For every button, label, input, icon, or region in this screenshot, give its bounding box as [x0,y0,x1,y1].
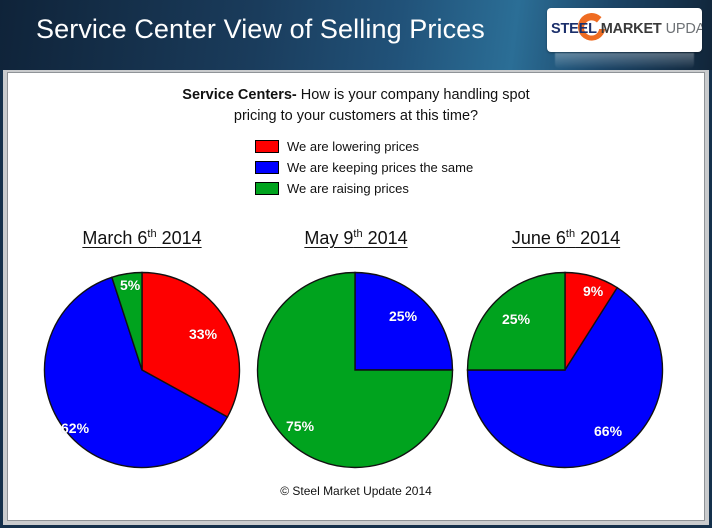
logo-reflection [555,53,694,69]
brand-logo: STEEL MARKET UPDATE [547,8,702,52]
pie-title-may-main: May 9 [304,228,353,248]
pie-march-label-raising: 5% [120,277,140,293]
question-line2: pricing to your customers at this time? [234,108,478,124]
survey-question: Service Centers- How is your company han… [8,85,704,127]
pie-march-label-same: 62% [61,420,89,436]
pie-june-label-raising: 25% [502,311,530,327]
pie-title-march-year: 2014 [157,228,202,248]
question-line1: How is your company handling spot [297,87,530,103]
logo-plate: STEEL MARKET UPDATE [547,8,702,52]
legend-label-same: We are keeping prices the same [287,160,473,175]
pie-chart-june [466,271,664,469]
page-title: Service Center View of Selling Prices [36,14,485,45]
logo-text-steel: STEEL [551,21,597,37]
pie-chart-may [256,271,454,469]
logo-wordmark: STEEL MARKET UPDATE [551,21,702,37]
legend-label-lowering: We are lowering prices [287,139,419,154]
pie-title-june: June 6th 2014 [466,228,666,249]
logo-text-market: MARKET [601,21,662,37]
pie-title-june-sup: th [566,228,575,240]
logo-text-update: UPDATE [666,21,702,37]
legend-item-raising: We are raising prices [255,179,515,197]
slide: Service Center View of Selling Prices ST… [0,0,712,528]
pie-title-march-main: March 6 [82,228,147,248]
pie-june-label-same: 66% [594,423,622,439]
legend-swatch-red [255,140,279,153]
pie-title-may: May 9th 2014 [256,228,456,249]
chart-legend: We are lowering prices We are keeping pr… [255,137,515,200]
pie-june-label-lowering: 9% [583,283,603,299]
question-respondent-group: Service Centers- [182,87,296,103]
header-bar: Service Center View of Selling Prices ST… [0,0,712,70]
pie-title-may-sup: th [353,228,362,240]
legend-item-same: We are keeping prices the same [255,158,515,176]
pie-may-label-same: 25% [389,308,417,324]
legend-swatch-green [255,182,279,195]
pie-title-may-year: 2014 [363,228,408,248]
pie-chart-march [43,271,241,469]
copyright-footer: © Steel Market Update 2014 [8,484,704,498]
pie-may-label-raising: 75% [286,418,314,434]
pie-title-june-year: 2014 [575,228,620,248]
legend-label-raising: We are raising prices [287,181,409,196]
pie-march-label-lowering: 33% [189,326,217,342]
pie-title-march-sup: th [147,228,156,240]
legend-item-lowering: We are lowering prices [255,137,515,155]
legend-swatch-blue [255,161,279,174]
pie-title-march: March 6th 2014 [42,228,242,249]
slide-body: Service Centers- How is your company han… [8,73,704,520]
pie-title-june-main: June 6 [512,228,566,248]
